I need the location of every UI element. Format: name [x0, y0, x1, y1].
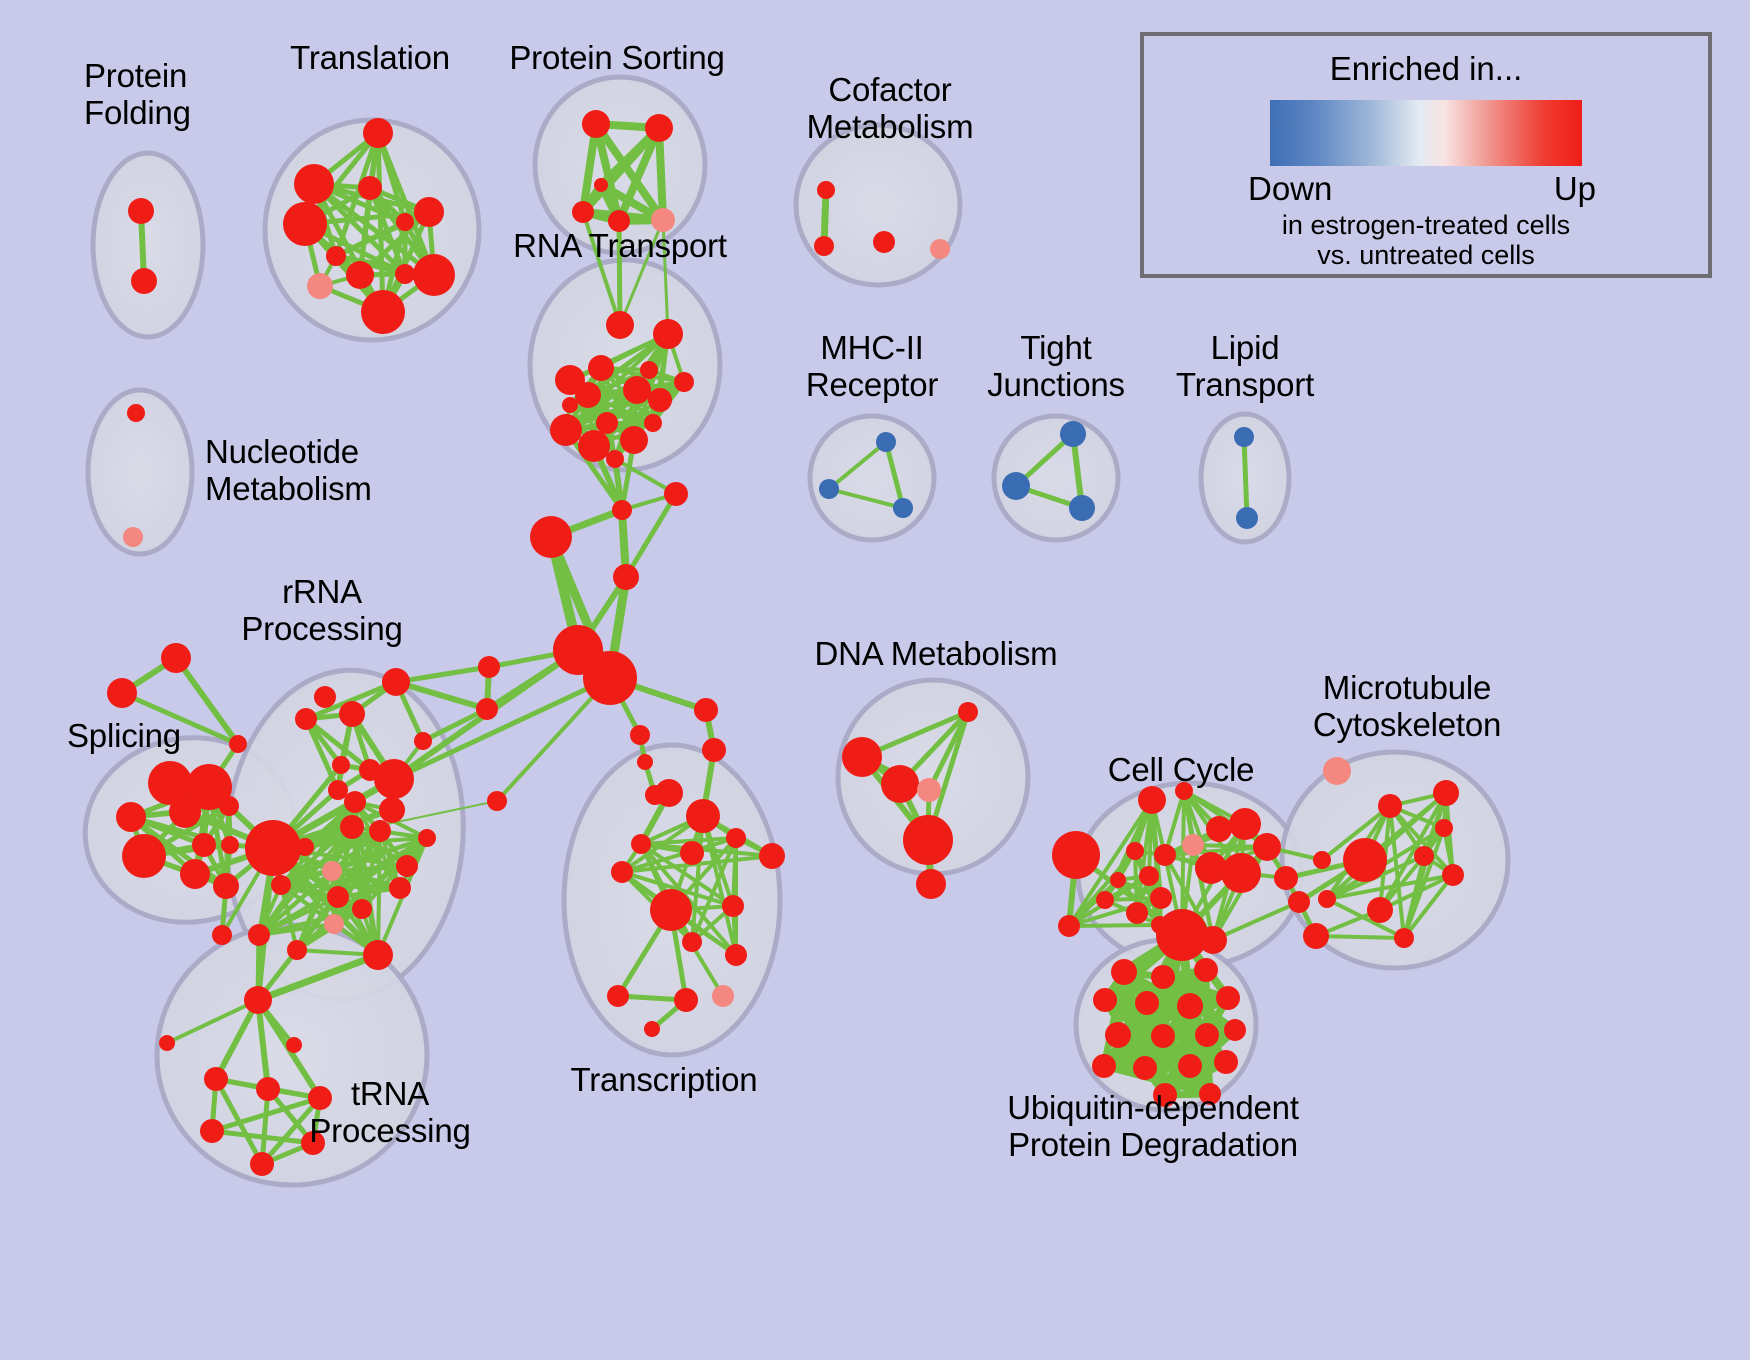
network-node[interactable] — [674, 372, 694, 392]
network-node[interactable] — [623, 376, 651, 404]
network-node[interactable] — [1105, 1022, 1131, 1048]
network-node[interactable] — [653, 319, 683, 349]
network-node[interactable] — [358, 176, 382, 200]
network-node[interactable] — [873, 231, 895, 253]
cluster-label-tight-junctions: Tight Junctions — [987, 330, 1125, 404]
network-node[interactable] — [596, 412, 618, 434]
network-node[interactable] — [327, 886, 349, 908]
network-node[interactable] — [1110, 872, 1126, 888]
cluster-label-translation: Translation — [290, 40, 450, 77]
network-node[interactable] — [1216, 986, 1240, 1010]
network-node[interactable] — [127, 404, 145, 422]
network-node[interactable] — [487, 791, 507, 811]
network-node[interactable] — [876, 432, 896, 452]
network-node[interactable] — [161, 643, 191, 673]
legend-low-label: Down — [1248, 170, 1332, 208]
cluster-label-mhc-ii-receptor: MHC-II Receptor — [806, 330, 938, 404]
network-node[interactable] — [363, 118, 393, 148]
network-node[interactable] — [588, 355, 614, 381]
network-node[interactable] — [250, 1152, 274, 1176]
network-node[interactable] — [583, 651, 637, 705]
network-node[interactable] — [814, 236, 834, 256]
network-node[interactable] — [1229, 808, 1261, 840]
network-node[interactable] — [1253, 833, 1281, 861]
network-node[interactable] — [1378, 794, 1402, 818]
network-node[interactable] — [893, 498, 913, 518]
network-node[interactable] — [1394, 928, 1414, 948]
network-node[interactable] — [1151, 916, 1169, 934]
network-node[interactable] — [1151, 1024, 1175, 1048]
network-node[interactable] — [655, 779, 683, 807]
network-node[interactable] — [1206, 816, 1232, 842]
network-node[interactable] — [759, 843, 785, 869]
network-node[interactable] — [287, 940, 307, 960]
network-node[interactable] — [1139, 866, 1159, 886]
network-node[interactable] — [903, 815, 953, 865]
network-node[interactable] — [476, 698, 498, 720]
network-node[interactable] — [575, 382, 601, 408]
network-node[interactable] — [630, 725, 650, 745]
network-node[interactable] — [644, 414, 662, 432]
network-node[interactable] — [606, 450, 624, 468]
network-node[interactable] — [1318, 890, 1336, 908]
network-edge — [396, 667, 489, 682]
network-node[interactable] — [726, 828, 746, 848]
network-edge — [1316, 936, 1404, 938]
network-node[interactable] — [1442, 864, 1464, 886]
network-node[interactable] — [219, 796, 239, 816]
network-node[interactable] — [283, 202, 327, 246]
network-node[interactable] — [644, 1021, 660, 1037]
network-edge — [1069, 925, 1160, 926]
network-node[interactable] — [296, 838, 314, 856]
cluster-label-splicing: Splicing — [67, 718, 181, 755]
network-node[interactable] — [881, 765, 919, 803]
network-node[interactable] — [842, 737, 882, 777]
cluster-hull-mhc-ii-receptor — [810, 416, 934, 540]
network-node[interactable] — [344, 791, 366, 813]
network-node[interactable] — [650, 889, 692, 931]
network-node[interactable] — [722, 895, 744, 917]
network-node[interactable] — [1313, 851, 1331, 869]
legend-endpoints: Down Up — [1240, 170, 1612, 212]
network-node[interactable] — [578, 430, 610, 462]
network-node[interactable] — [1182, 834, 1204, 856]
network-node[interactable] — [295, 708, 317, 730]
network-node[interactable] — [1126, 842, 1144, 860]
network-node[interactable] — [1092, 1054, 1116, 1078]
network-node[interactable] — [271, 875, 291, 895]
network-node[interactable] — [1414, 846, 1434, 866]
network-node[interactable] — [1274, 866, 1298, 890]
network-node[interactable] — [396, 213, 414, 231]
network-node[interactable] — [916, 869, 946, 899]
legend-caption-line2: vs. untreated cells — [1144, 240, 1708, 272]
network-node[interactable] — [244, 986, 272, 1014]
network-node[interactable] — [294, 164, 334, 204]
network-node[interactable] — [1177, 993, 1203, 1019]
cluster-label-transcription: Transcription — [571, 1062, 758, 1099]
network-node[interactable] — [1433, 780, 1459, 806]
network-node[interactable] — [612, 500, 632, 520]
network-node[interactable] — [396, 855, 418, 877]
network-node[interactable] — [326, 246, 346, 266]
network-node[interactable] — [712, 985, 734, 1007]
network-node[interactable] — [725, 944, 747, 966]
network-node[interactable] — [1002, 472, 1030, 500]
network-node[interactable] — [1111, 959, 1137, 985]
network-node[interactable] — [1221, 853, 1261, 893]
network-node[interactable] — [382, 668, 410, 696]
network-node[interactable] — [1096, 891, 1114, 909]
network-node[interactable] — [645, 114, 673, 142]
network-node[interactable] — [1058, 915, 1080, 937]
network-node[interactable] — [1178, 1054, 1202, 1078]
network-node[interactable] — [389, 877, 411, 899]
cluster-label-protein-sorting: Protein Sorting — [509, 40, 724, 77]
network-node[interactable] — [640, 361, 658, 379]
cluster-label-microtubule-cytoskeleton: Microtubule Cytoskeleton — [1313, 670, 1501, 744]
legend-color-bar — [1270, 100, 1582, 166]
network-node[interactable] — [1303, 923, 1329, 949]
network-node[interactable] — [204, 1067, 228, 1091]
network-node[interactable] — [819, 479, 839, 499]
network-node[interactable] — [107, 678, 137, 708]
network-node[interactable] — [314, 686, 336, 708]
network-node[interactable] — [322, 861, 342, 881]
network-node[interactable] — [131, 268, 157, 294]
network-node[interactable] — [229, 735, 247, 753]
network-node[interactable] — [550, 414, 582, 446]
cluster-label-protein-folding: Protein Folding — [84, 58, 191, 132]
cluster-label-cell-cycle: Cell Cycle — [1108, 752, 1255, 789]
network-node[interactable] — [328, 780, 348, 800]
legend-panel: Enriched in... Down Up in estrogen-treat… — [1140, 32, 1712, 278]
network-node[interactable] — [1288, 891, 1310, 913]
network-node[interactable] — [122, 834, 166, 878]
network-node[interactable] — [1194, 958, 1218, 982]
network-node[interactable] — [1323, 757, 1351, 785]
network-node[interactable] — [1060, 421, 1086, 447]
cluster-label-rrna-processing: rRNA Processing — [241, 574, 402, 648]
network-node[interactable] — [1133, 1056, 1157, 1080]
network-node[interactable] — [221, 836, 239, 854]
cluster-label-rna-transport: RNA Transport — [513, 228, 727, 265]
network-node[interactable] — [648, 388, 672, 412]
network-node[interactable] — [958, 702, 978, 722]
network-node[interactable] — [1126, 902, 1148, 924]
network-edge — [1244, 437, 1247, 518]
network-node[interactable] — [395, 264, 415, 284]
network-node[interactable] — [694, 698, 718, 722]
network-node[interactable] — [1151, 965, 1175, 989]
network-node[interactable] — [664, 482, 688, 506]
network-node[interactable] — [363, 940, 393, 970]
network-node[interactable] — [530, 516, 572, 558]
cluster-label-ubiquitin-protein-degradation: Ubiquitin-dependent Protein Degradation — [1007, 1090, 1299, 1164]
network-node[interactable] — [414, 732, 432, 750]
network-node[interactable] — [180, 859, 210, 889]
network-node[interactable] — [332, 756, 350, 774]
network-node[interactable] — [379, 797, 405, 823]
enrichment-map-figure: Protein FoldingTranslationProtein Sortin… — [0, 0, 1750, 1360]
network-node[interactable] — [192, 833, 216, 857]
network-node[interactable] — [339, 701, 365, 727]
network-node[interactable] — [607, 985, 629, 1007]
cluster-label-cofactor-metabolism: Cofactor Metabolism — [807, 72, 974, 146]
cluster-label-lipid-transport: Lipid Transport — [1176, 330, 1314, 404]
network-node[interactable] — [123, 527, 143, 547]
network-node[interactable] — [1052, 831, 1100, 879]
network-node[interactable] — [674, 988, 698, 1012]
network-node[interactable] — [682, 932, 702, 952]
network-node[interactable] — [374, 759, 414, 799]
network-node[interactable] — [478, 656, 500, 678]
network-node[interactable] — [702, 738, 726, 762]
network-node[interactable] — [680, 841, 704, 865]
network-node[interactable] — [817, 181, 835, 199]
network-node[interactable] — [128, 198, 154, 224]
network-node[interactable] — [686, 799, 720, 833]
network-node[interactable] — [245, 820, 301, 876]
network-node[interactable] — [1367, 897, 1393, 923]
network-node[interactable] — [369, 820, 391, 842]
network-node[interactable] — [620, 426, 648, 454]
network-node[interactable] — [930, 239, 950, 259]
network-node[interactable] — [631, 834, 651, 854]
network-node[interactable] — [1435, 819, 1453, 837]
network-node[interactable] — [1135, 991, 1159, 1015]
network-node[interactable] — [340, 815, 364, 839]
network-node[interactable] — [572, 201, 594, 223]
network-node[interactable] — [1343, 838, 1387, 882]
network-node[interactable] — [917, 778, 941, 802]
network-node[interactable] — [352, 899, 372, 919]
network-node[interactable] — [1234, 427, 1254, 447]
network-node[interactable] — [418, 829, 436, 847]
network-node[interactable] — [611, 861, 633, 883]
legend-title: Enriched in... — [1144, 50, 1708, 88]
network-node[interactable] — [1150, 887, 1172, 909]
network-node[interactable] — [637, 754, 653, 770]
cluster-hull-cofactor-metabolism — [796, 125, 960, 285]
network-node[interactable] — [159, 1035, 175, 1051]
network-node[interactable] — [346, 261, 374, 289]
network-node[interactable] — [562, 397, 578, 413]
network-node[interactable] — [116, 802, 146, 832]
network-node[interactable] — [1195, 1023, 1219, 1047]
network-node[interactable] — [200, 1119, 224, 1143]
network-node[interactable] — [248, 924, 270, 946]
network-node[interactable] — [1138, 786, 1166, 814]
cluster-label-trna-processing: tRNA Processing — [309, 1076, 470, 1150]
network-node[interactable] — [1224, 1019, 1246, 1041]
network-node[interactable] — [213, 873, 239, 899]
network-node[interactable] — [307, 273, 333, 299]
network-node[interactable] — [1093, 988, 1117, 1012]
network-node[interactable] — [1154, 844, 1176, 866]
network-node[interactable] — [256, 1077, 280, 1101]
legend-caption-line1: in estrogen-treated cells — [1144, 210, 1708, 242]
network-node[interactable] — [1214, 1050, 1238, 1074]
network-node[interactable] — [1069, 495, 1095, 521]
cluster-label-dna-metabolism: DNA Metabolism — [815, 636, 1058, 673]
network-node[interactable] — [613, 564, 639, 590]
network-node[interactable] — [1236, 507, 1258, 529]
cluster-label-nucleotide-metabolism: Nucleotide Metabolism — [205, 434, 372, 508]
network-node[interactable] — [169, 796, 201, 828]
network-node[interactable] — [414, 197, 444, 227]
network-node[interactable] — [361, 290, 405, 334]
network-node[interactable] — [594, 178, 608, 192]
network-node[interactable] — [582, 110, 610, 138]
network-node[interactable] — [286, 1037, 302, 1053]
network-node[interactable] — [324, 914, 344, 934]
cluster-hull-protein-folding — [93, 153, 203, 337]
network-node[interactable] — [606, 311, 634, 339]
legend-high-label: Up — [1554, 170, 1596, 208]
network-node[interactable] — [413, 254, 455, 296]
network-node[interactable] — [1199, 926, 1227, 954]
network-node[interactable] — [212, 925, 232, 945]
